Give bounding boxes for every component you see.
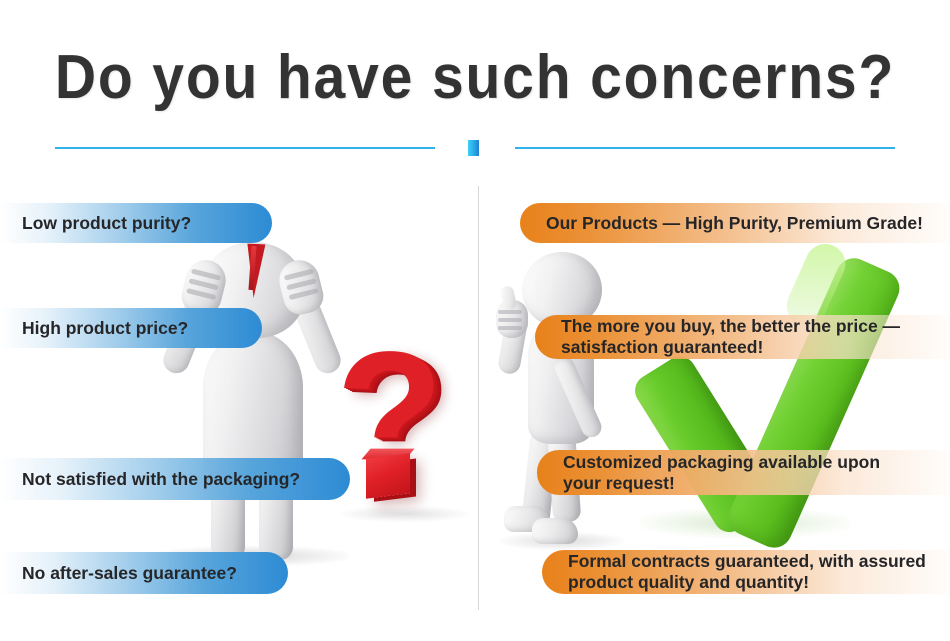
- page-title: Do you have such concerns?: [38, 38, 912, 118]
- knuckle: [498, 318, 522, 322]
- concern-callout-4[interactable]: No after-sales guarantee?: [0, 552, 288, 594]
- concern-callout-4-label: No after-sales guarantee?: [22, 563, 237, 584]
- solution-callout-2[interactable]: The more you buy, the better the price —…: [535, 315, 950, 359]
- promo-slide: Do you have such concerns?: [0, 0, 950, 641]
- knuckle: [498, 326, 522, 330]
- concern-callout-2-label: High product price?: [22, 318, 188, 339]
- title-rule-accent-square: [468, 140, 479, 156]
- title-rule: [55, 140, 895, 156]
- solution-callout-1[interactable]: Our Products — High Purity, Premium Grad…: [520, 203, 950, 243]
- solution-callout-2-label: The more you buy, the better the price —…: [561, 316, 900, 358]
- solution-callout-4[interactable]: Formal contracts guaranteed, with assure…: [542, 550, 950, 594]
- question-mark-icon: ?: [330, 326, 478, 516]
- worried-figure-icon: [148, 238, 358, 568]
- concern-callout-1-label: Low product purity?: [22, 213, 191, 234]
- solution-callout-1-label: Our Products — High Purity, Premium Grad…: [546, 213, 923, 234]
- concern-callout-3-label: Not satisfied with the packaging?: [22, 469, 300, 490]
- finger: [186, 288, 216, 300]
- figure-foot-front: [532, 518, 578, 544]
- concern-callout-3[interactable]: Not satisfied with the packaging?: [0, 458, 350, 500]
- check-mark-icon: [600, 236, 890, 546]
- concern-callout-1[interactable]: Low product purity?: [0, 203, 272, 243]
- solution-callout-4-label: Formal contracts guaranteed, with assure…: [568, 551, 926, 593]
- finger: [289, 288, 319, 300]
- title-rule-right-segment: [515, 147, 895, 149]
- title-rule-left-segment: [55, 147, 435, 149]
- solution-callout-3-label: Customized packaging available upon your…: [563, 452, 880, 494]
- question-mark-dot: [366, 453, 410, 498]
- solution-callout-3[interactable]: Customized packaging available upon your…: [537, 450, 950, 495]
- concern-callout-2[interactable]: High product price?: [0, 308, 262, 348]
- thumbs-up-figure-icon: [496, 250, 626, 550]
- knuckle: [498, 310, 522, 314]
